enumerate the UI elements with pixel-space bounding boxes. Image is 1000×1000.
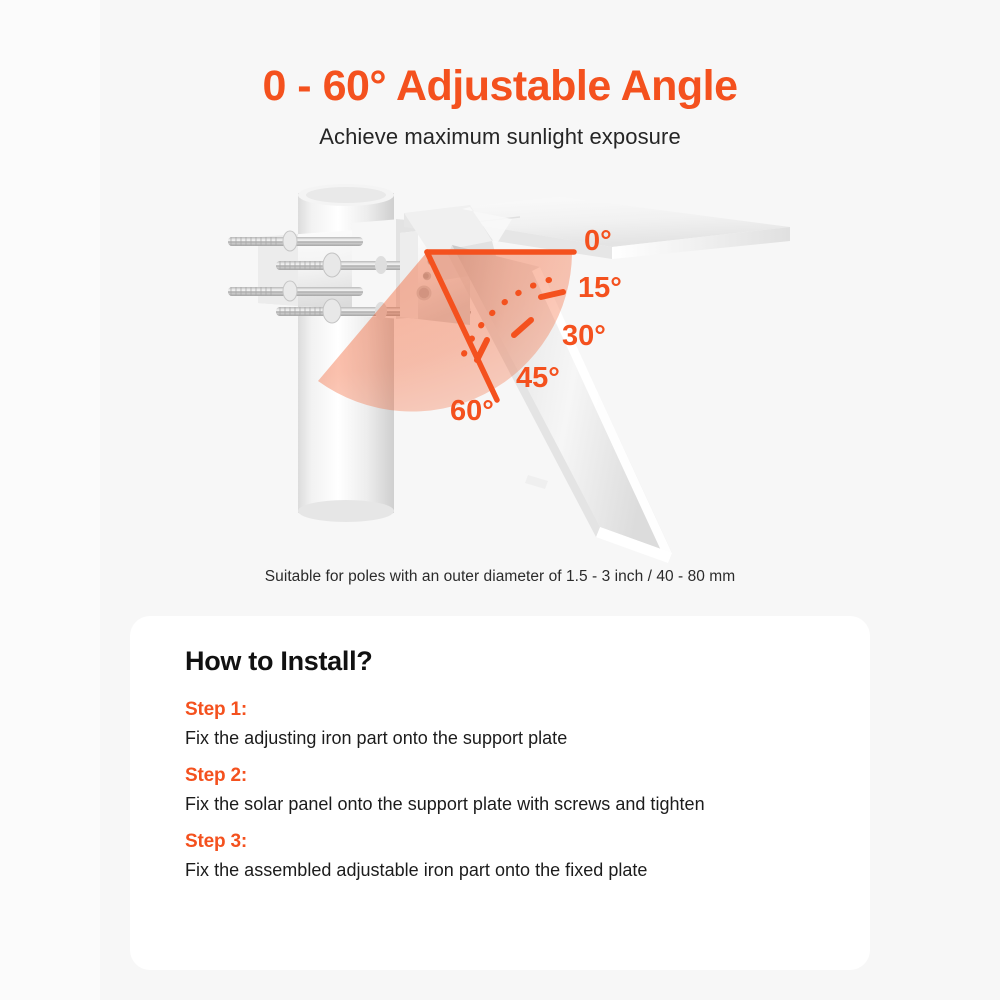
angle-label-60: 60° bbox=[450, 395, 494, 427]
angle-label-0: 0° bbox=[584, 225, 612, 257]
bracket-diagram-svg: 0° 15° 30° 45° 60° bbox=[0, 175, 1000, 595]
angle-label-45: 45° bbox=[516, 362, 560, 394]
page-title: 0 - 60° Adjustable Angle bbox=[0, 62, 1000, 110]
step-2-label: Step 2: bbox=[185, 765, 815, 787]
step-3-label: Step 3: bbox=[185, 831, 815, 853]
angle-label-30: 30° bbox=[562, 320, 606, 352]
page-root: 0 - 60° Adjustable Angle Achieve maximum… bbox=[0, 0, 1000, 1000]
install-step-2: Step 2: Fix the solar panel onto the sup… bbox=[185, 765, 815, 815]
pole-compatibility-caption: Suitable for poles with an outer diamete… bbox=[0, 568, 1000, 586]
install-instructions-card: How to Install? Step 1: Fix the adjustin… bbox=[130, 616, 870, 970]
step-1-text: Fix the adjusting iron part onto the sup… bbox=[185, 728, 815, 749]
step-2-text: Fix the solar panel onto the support pla… bbox=[185, 794, 815, 815]
header-block: 0 - 60° Adjustable Angle Achieve maximum… bbox=[0, 62, 1000, 150]
step-3-text: Fix the assembled adjustable iron part o… bbox=[185, 860, 815, 881]
step-1-label: Step 1: bbox=[185, 699, 815, 721]
page-subtitle: Achieve maximum sunlight exposure bbox=[0, 124, 1000, 150]
install-step-3: Step 3: Fix the assembled adjustable iro… bbox=[185, 831, 815, 881]
angle-label-15: 15° bbox=[578, 272, 622, 304]
install-title: How to Install? bbox=[185, 646, 815, 677]
install-step-1: Step 1: Fix the adjusting iron part onto… bbox=[185, 699, 815, 749]
product-illustration: 0° 15° 30° 45° 60° bbox=[0, 175, 1000, 595]
